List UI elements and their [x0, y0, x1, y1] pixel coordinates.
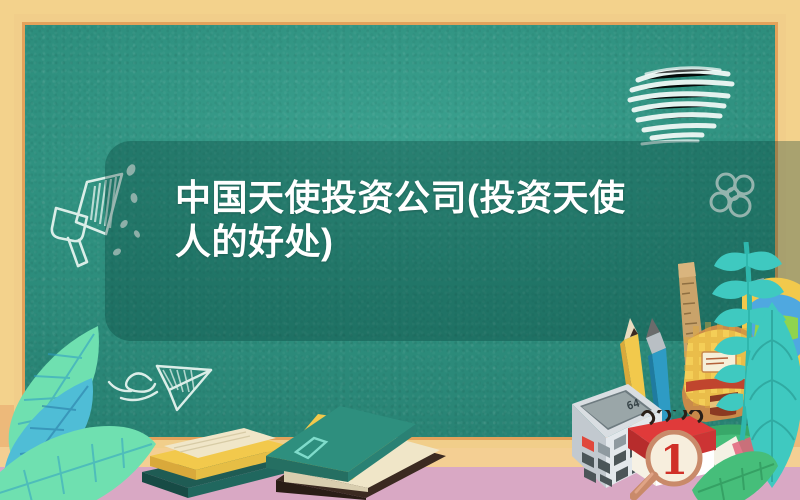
calendar-day-number: 1	[660, 437, 688, 484]
eraser-smudge-icon	[622, 58, 744, 154]
book-stack	[256, 396, 456, 500]
leaf-icon	[0, 406, 160, 500]
leaf-icon	[690, 444, 780, 500]
banner-canvas: 中国天使投资公司(投资天使人的好处)	[0, 0, 800, 500]
page-title: 中国天使投资公司(投资天使人的好处)	[175, 176, 645, 264]
